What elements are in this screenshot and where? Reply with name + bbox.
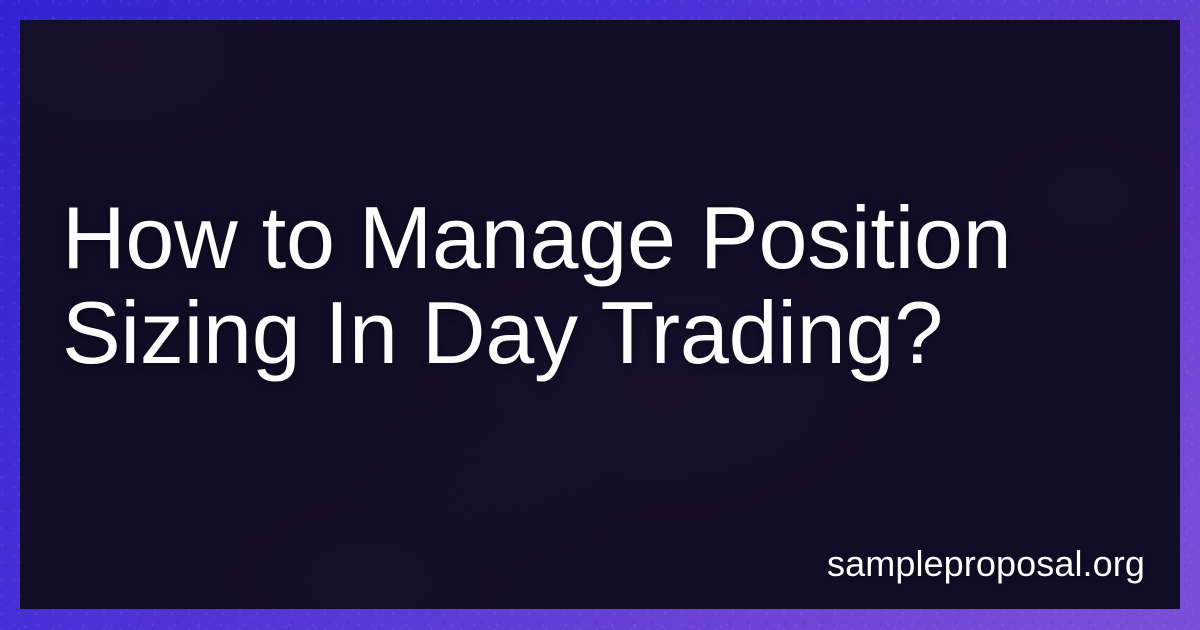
social-share-card: How to Manage Position Sizing In Day Tra…: [0, 0, 1200, 630]
site-url-label: sampleproposal.org: [827, 543, 1145, 585]
card-inner-panel: How to Manage Position Sizing In Day Tra…: [20, 20, 1180, 609]
page-title: How to Manage Position Sizing In Day Tra…: [62, 190, 1122, 380]
